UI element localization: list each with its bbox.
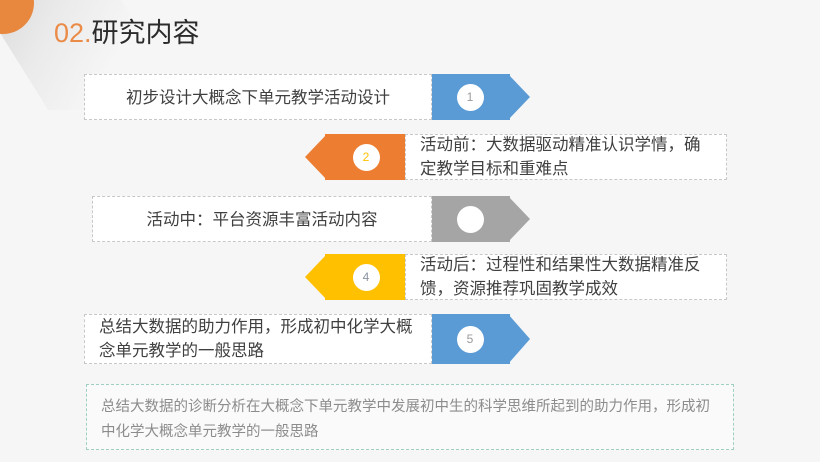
- page-title-number: 02.: [54, 18, 92, 48]
- step-5-arrow[interactable]: 5: [432, 314, 530, 364]
- step-5-number-badge: 5: [457, 326, 484, 353]
- step-3-number-badge: 3: [457, 206, 484, 233]
- step-4-number-badge: 4: [353, 264, 380, 291]
- summary-text: 总结大数据的诊断分析在大概念下单元教学中发展初中生的科学思维所起到的助力作用，形…: [101, 399, 710, 440]
- step-1-number-badge: 1: [457, 84, 484, 111]
- process-step-3[interactable]: 活动中：平台资源丰富活动内容 3: [92, 196, 530, 242]
- orange-circle-decoration: [0, 0, 34, 34]
- step-5-arrow-tip-icon: [508, 314, 530, 364]
- page-title-text: 研究内容: [92, 18, 200, 48]
- step-1-text-box: 初步设计大概念下单元教学活动设计: [84, 74, 432, 120]
- step-2-text-box: 活动前：大数据驱动精准认识学情，确定教学目标和重难点: [405, 134, 727, 180]
- step-1-label: 初步设计大概念下单元教学活动设计: [85, 86, 431, 109]
- step-1-arrow-tip-icon: [508, 74, 530, 120]
- step-4-arrow-tip-icon: [305, 254, 327, 300]
- process-step-2[interactable]: 2 活动前：大数据驱动精准认识学情，确定教学目标和重难点: [305, 134, 727, 180]
- process-step-1[interactable]: 初步设计大概念下单元教学活动设计 1: [84, 74, 530, 120]
- step-4-label: 活动后：过程性和结果性大数据精准反馈，资源推荐巩固教学成效: [406, 253, 726, 301]
- step-5-text-box: 总结大数据的助力作用，形成初中化学大概念单元教学的一般思路: [84, 314, 432, 364]
- step-3-arrow[interactable]: 3: [432, 196, 530, 242]
- step-4-arrow[interactable]: 4: [305, 254, 405, 300]
- step-5-label: 总结大数据的助力作用，形成初中化学大概念单元教学的一般思路: [85, 315, 431, 363]
- process-step-4[interactable]: 4 活动后：过程性和结果性大数据精准反馈，资源推荐巩固教学成效: [305, 254, 727, 300]
- step-2-arrow[interactable]: 2: [305, 134, 405, 180]
- step-2-arrow-tip-icon: [305, 134, 327, 180]
- summary-box: 总结大数据的诊断分析在大概念下单元教学中发展初中生的科学思维所起到的助力作用，形…: [86, 384, 734, 450]
- step-3-arrow-tip-icon: [508, 196, 530, 242]
- process-step-5[interactable]: 总结大数据的助力作用，形成初中化学大概念单元教学的一般思路 5: [84, 314, 530, 364]
- step-3-label: 活动中：平台资源丰富活动内容: [93, 208, 431, 231]
- step-1-arrow[interactable]: 1: [432, 74, 530, 120]
- step-4-text-box: 活动后：过程性和结果性大数据精准反馈，资源推荐巩固教学成效: [405, 254, 727, 300]
- step-2-number-badge: 2: [353, 144, 380, 171]
- step-3-text-box: 活动中：平台资源丰富活动内容: [92, 196, 432, 242]
- step-2-label: 活动前：大数据驱动精准认识学情，确定教学目标和重难点: [406, 133, 726, 181]
- page-title: 02.研究内容: [54, 16, 200, 50]
